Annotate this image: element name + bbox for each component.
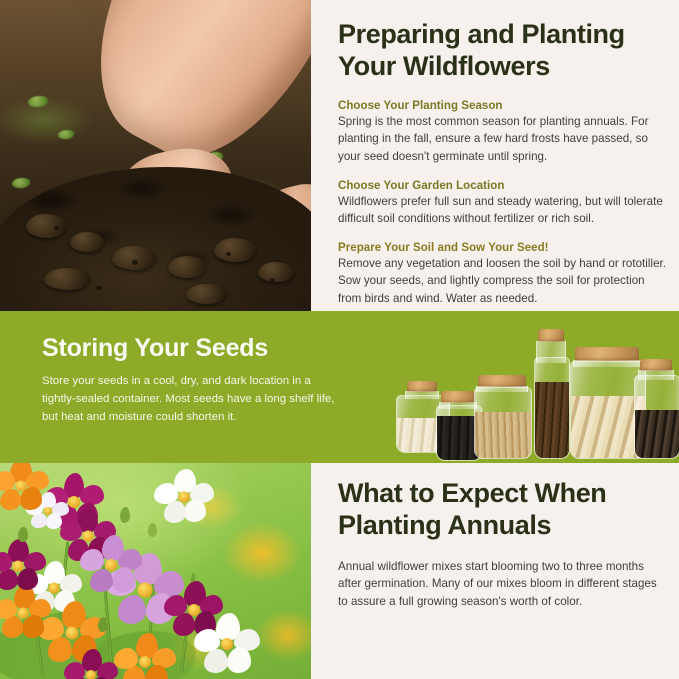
jar-sunflower-seeds	[634, 359, 678, 459]
petal	[227, 647, 251, 673]
photo-seed-jars	[390, 325, 670, 457]
flower-center	[13, 561, 24, 572]
text-block-prepare-soil: Prepare Your Soil and Sow Your Seed! Rem…	[338, 242, 668, 308]
photo-wildflower-meadow	[0, 463, 311, 679]
petal	[184, 499, 206, 522]
petal	[0, 489, 21, 510]
flower-center	[66, 627, 79, 640]
flower-center	[221, 638, 233, 650]
flower-center	[139, 656, 151, 668]
flower-white	[156, 471, 212, 523]
flower-center	[44, 507, 52, 515]
body-storing-seeds: Store your seeds in a cool, dry, and dar…	[42, 373, 342, 426]
soil-clod	[258, 262, 294, 282]
soil-speck	[226, 252, 231, 256]
petal	[22, 615, 44, 638]
subheading-garden-location: Choose Your Garden Location	[338, 180, 668, 192]
jar-large-pumpkin-seeds	[570, 347, 644, 459]
petal	[17, 568, 38, 590]
soil-clod	[112, 246, 156, 270]
soil-clod	[168, 256, 206, 278]
jar-glass	[534, 357, 570, 459]
page-title-preparing: Preparing and Planting Your Wildflowers	[338, 0, 668, 83]
body-planting-season: Spring is the most common season for pla…	[338, 113, 668, 166]
flower-lilac	[82, 537, 140, 593]
flower-center	[105, 559, 117, 571]
soil-speck	[96, 286, 102, 290]
petal	[164, 595, 187, 616]
soil-clod	[26, 214, 66, 238]
petal	[31, 513, 47, 528]
section-storing-seeds: Storing Your Seeds Store your seeds in a…	[0, 311, 679, 463]
petal	[204, 649, 228, 673]
flower-bud	[18, 527, 28, 542]
subheading-prepare-soil: Prepare Your Soil and Sow Your Seed!	[338, 242, 668, 254]
seed-fill	[475, 412, 531, 458]
petal	[90, 569, 113, 592]
petal	[173, 613, 195, 636]
photo-hand-sowing-seeds	[0, 0, 311, 311]
soil-speck	[270, 278, 275, 282]
body-what-to-expect: Annual wildflower mixes start blooming t…	[338, 558, 668, 611]
green-text-column: Storing Your Seeds Store your seeds in a…	[42, 333, 342, 426]
body-prepare-soil: Remove any vegetation and loosen the soi…	[338, 255, 668, 308]
page-title-what-to-expect: What to Expect When Planting Annuals	[338, 477, 668, 542]
petal	[46, 513, 62, 529]
flower-center	[86, 670, 96, 679]
soil-speck	[132, 260, 138, 265]
subheading-planting-season: Choose Your Planting Season	[338, 100, 668, 112]
petal	[164, 501, 186, 523]
petal	[194, 629, 220, 652]
soil-clod	[44, 268, 90, 290]
page-title-storing: Storing Your Seeds	[42, 333, 342, 363]
petal	[114, 648, 138, 669]
flower-center	[83, 531, 94, 542]
seed-fill	[535, 382, 569, 458]
top-text-column: Preparing and Planting Your Wildflowers …	[338, 0, 668, 311]
petal	[64, 662, 85, 679]
jar-glass	[634, 375, 679, 459]
flower-center	[68, 496, 80, 508]
bottom-text-column: What to Expect When Planting Annuals Ann…	[338, 477, 668, 611]
flower-center	[138, 583, 153, 598]
seed-fill	[635, 410, 679, 458]
flower-bud	[148, 523, 157, 537]
flower-orange	[0, 587, 50, 639]
flower-bud	[120, 507, 130, 523]
text-block-planting-season: Choose Your Planting Season Spring is th…	[338, 100, 668, 166]
soil-clod	[214, 238, 256, 262]
flower-orange	[116, 635, 174, 679]
soil-clod	[186, 284, 226, 304]
soil-speck	[54, 226, 59, 230]
petal	[80, 485, 104, 505]
flower-center	[188, 604, 200, 616]
petal	[80, 549, 104, 571]
flower-bud	[98, 617, 108, 632]
text-block-garden-location: Choose Your Garden Location Wildflowers …	[338, 180, 668, 228]
body-garden-location: Wildflowers prefer full sun and steady w…	[338, 193, 668, 228]
petal	[0, 569, 18, 590]
petal	[154, 483, 178, 504]
section-what-to-expect: What to Expect When Planting Annuals Ann…	[0, 463, 679, 679]
jar-tan-grain	[474, 375, 530, 459]
flower-orange	[0, 463, 48, 511]
cork-lid	[575, 347, 639, 361]
jar-tall-dark-seeds	[534, 329, 568, 459]
jar-glass	[474, 387, 532, 459]
section-preparing-planting: Preparing and Planting Your Wildflowers …	[0, 0, 679, 311]
petal	[118, 595, 146, 624]
flower-magenta	[66, 651, 116, 679]
flower-magenta	[0, 541, 44, 591]
flower-center	[179, 492, 190, 503]
petal	[112, 567, 135, 592]
flower-center	[18, 608, 29, 619]
flower-white	[196, 615, 258, 673]
soil-clod	[70, 232, 104, 252]
flower-center	[16, 481, 27, 492]
wildflower-planting-infographic: Preparing and Planting Your Wildflowers …	[0, 0, 679, 679]
petal	[2, 616, 23, 638]
flower-center	[49, 583, 60, 594]
